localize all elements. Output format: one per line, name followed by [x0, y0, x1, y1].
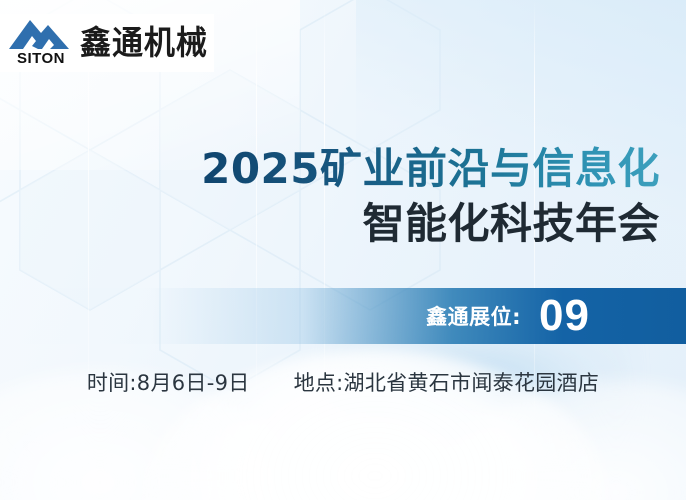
vertical-line-decoration-4: [534, 0, 535, 500]
booth-label: 鑫通展位:: [426, 301, 521, 331]
event-location: 地点:湖北省黄石市闻泰花园酒店: [294, 370, 600, 396]
logo-chinese-name: 鑫通机械: [80, 26, 208, 60]
event-poster: SITON 鑫通机械 2025矿业前沿与信息化 智能化科技年会 鑫通展位: 09…: [0, 0, 686, 500]
vertical-line-decoration-3: [324, 0, 325, 500]
event-time: 时间:8月6日-9日: [87, 370, 250, 396]
poster-headline: 2025矿业前沿与信息化 智能化科技年会: [201, 144, 660, 250]
headline-line-2: 智能化科技年会: [201, 198, 660, 250]
booth-banner: 鑫通展位: 09: [0, 288, 686, 344]
mountain-peak-icon: SITON: [8, 19, 74, 67]
event-info-row: 时间:8月6日-9日 地点:湖北省黄石市闻泰花园酒店: [0, 370, 686, 396]
booth-number: 09: [539, 294, 590, 338]
company-logo: SITON 鑫通机械: [0, 14, 214, 72]
vertical-line-decoration-2: [256, 0, 257, 500]
headline-line-1: 2025矿业前沿与信息化: [201, 144, 660, 194]
logo-latin-name: SITON: [9, 51, 73, 66]
bottom-right-cloud-decoration: [436, 380, 686, 500]
vertical-line-decoration-1: [88, 0, 89, 500]
